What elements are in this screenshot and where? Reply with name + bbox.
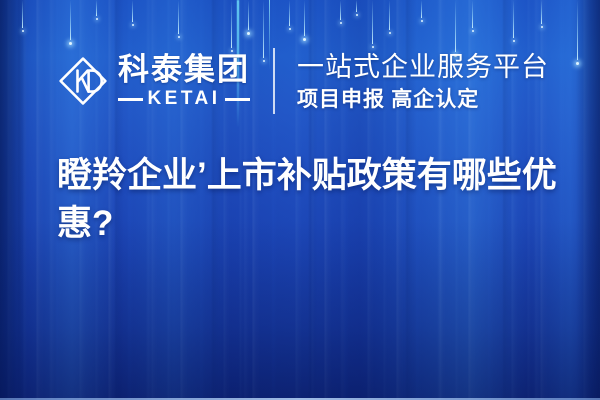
ketai-logo-icon — [57, 55, 109, 107]
logo-company-name-en: KETAI — [147, 89, 220, 109]
promo-banner: 科泰集团 KETAI 一站式企业服务平台 项目申报 高企认定 瞪羚企业’上市补贴… — [0, 0, 600, 400]
header-tagline-main: 一站式企业服务平台 — [297, 51, 549, 83]
header-tagline-sub: 项目申报 高企认定 — [297, 86, 549, 112]
page-title: 瞪羚企业’上市补贴政策有哪些优惠? — [57, 152, 569, 248]
header-taglines: 一站式企业服务平台 项目申报 高企认定 — [297, 51, 549, 112]
logo-wordmark: 科泰集团 KETAI — [118, 53, 250, 109]
logo-company-name-cn: 科泰集团 — [118, 53, 250, 86]
logo-rule-right — [225, 98, 250, 101]
brand-header: 科泰集团 KETAI 一站式企业服务平台 项目申报 高企认定 — [0, 40, 600, 122]
logo-lockup: 科泰集团 KETAI — [57, 53, 250, 109]
logo-en-row: KETAI — [118, 89, 250, 109]
logo-rule-left — [118, 98, 143, 101]
header-divider — [273, 48, 275, 114]
